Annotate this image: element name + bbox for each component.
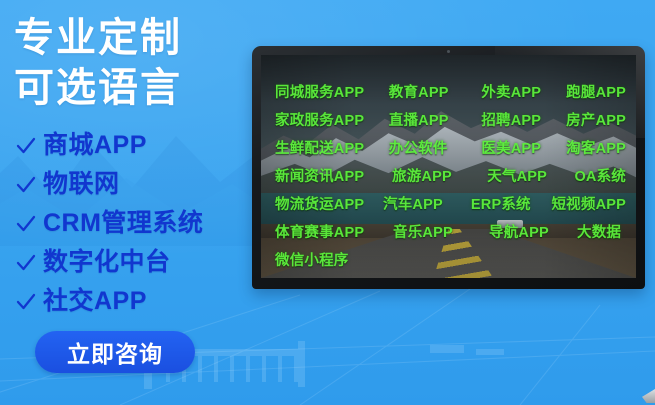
app-label[interactable]: 旅游APP — [392, 165, 487, 186]
check-icon — [16, 292, 36, 312]
feature-label: 商城APP — [43, 132, 147, 159]
page-title-line1: 专业定制 — [14, 14, 258, 63]
app-label[interactable]: 淘客APP — [566, 137, 626, 158]
app-label[interactable]: ERP系统 — [471, 193, 552, 214]
app-label[interactable]: 外卖APP — [481, 81, 566, 102]
app-label[interactable]: 同城服务APP — [275, 81, 389, 102]
app-label[interactable]: 招聘APP — [481, 109, 566, 130]
app-label[interactable]: 物流货运APP — [275, 193, 383, 214]
app-label[interactable]: 直播APP — [389, 109, 482, 130]
app-grid-row: 同城服务APP 教育APP 外卖APP 跑腿APP — [275, 77, 626, 105]
app-label[interactable]: OA系统 — [574, 165, 626, 186]
monitor-screen: 同城服务APP 教育APP 外卖APP 跑腿APP 家政服务APP 直播APP … — [261, 55, 636, 278]
feature-item-social-app: 社交APP — [14, 282, 258, 321]
app-label[interactable]: 新闻资讯APP — [275, 165, 392, 186]
check-icon — [16, 253, 36, 273]
app-label[interactable]: 跑腿APP — [566, 81, 626, 102]
promo-banner: 专业定制 可选语言 商城APP 物联网 CRM管理系统 — [0, 0, 655, 405]
app-label[interactable]: 医美APP — [481, 137, 566, 158]
feature-item-mall-app: 商城APP — [14, 126, 258, 165]
feature-label: CRM管理系统 — [43, 210, 203, 237]
app-label[interactable]: 汽车APP — [383, 193, 471, 214]
app-label[interactable]: 导航APP — [489, 221, 577, 242]
feature-item-crm: CRM管理系统 — [14, 204, 258, 243]
check-icon — [16, 214, 36, 234]
app-label[interactable]: 生鲜配送APP — [275, 137, 389, 158]
app-label[interactable]: 微信小程序 — [275, 249, 393, 270]
webcam-icon — [447, 50, 450, 53]
app-label[interactable]: 教育APP — [389, 81, 482, 102]
app-grid-row: 物流货运APP 汽车APP ERP系统 短视频APP — [275, 189, 626, 217]
page-title-line2: 可选语言 — [14, 64, 258, 113]
check-icon — [16, 175, 36, 195]
app-grid-row: 体育赛事APP 音乐APP 导航APP 大数据 — [275, 217, 626, 245]
app-label[interactable]: 办公软件 — [389, 137, 482, 158]
feature-item-digital-midplatform: 数字化中台 — [14, 243, 258, 282]
app-grid-row: 新闻资讯APP 旅游APP 天气APP OA系统 — [275, 161, 626, 189]
app-label[interactable]: 天气APP — [487, 165, 574, 186]
app-grid-row: 微信小程序 — [275, 245, 626, 273]
feature-item-iot: 物联网 — [14, 165, 258, 204]
app-grid-row: 生鲜配送APP 办公软件 医美APP 淘客APP — [275, 133, 626, 161]
app-label[interactable]: 体育赛事APP — [275, 221, 393, 242]
left-content-panel: 专业定制 可选语言 商城APP 物联网 CRM管理系统 — [0, 0, 258, 405]
app-label[interactable]: 音乐APP — [393, 221, 489, 242]
feature-label: 物联网 — [43, 171, 120, 198]
monitor-stand-base — [642, 387, 655, 403]
app-label[interactable]: 大数据 — [577, 221, 621, 242]
app-label[interactable]: 短视频APP — [551, 193, 626, 214]
monitor-illustration: 同城服务APP 教育APP 外卖APP 跑腿APP 家政服务APP 直播APP … — [252, 46, 645, 289]
app-type-grid: 同城服务APP 教育APP 外卖APP 跑腿APP 家政服务APP 直播APP … — [261, 55, 636, 278]
feature-list: 商城APP 物联网 CRM管理系统 数字化中台 — [14, 126, 258, 321]
feature-label: 社交APP — [43, 288, 147, 315]
consult-now-button[interactable]: 立即咨询 — [35, 331, 195, 373]
app-label[interactable]: 房产APP — [566, 109, 626, 130]
check-icon — [16, 136, 36, 156]
app-label[interactable]: 家政服务APP — [275, 109, 389, 130]
feature-label: 数字化中台 — [43, 249, 171, 276]
app-grid-row: 家政服务APP 直播APP 招聘APP 房产APP — [275, 105, 626, 133]
